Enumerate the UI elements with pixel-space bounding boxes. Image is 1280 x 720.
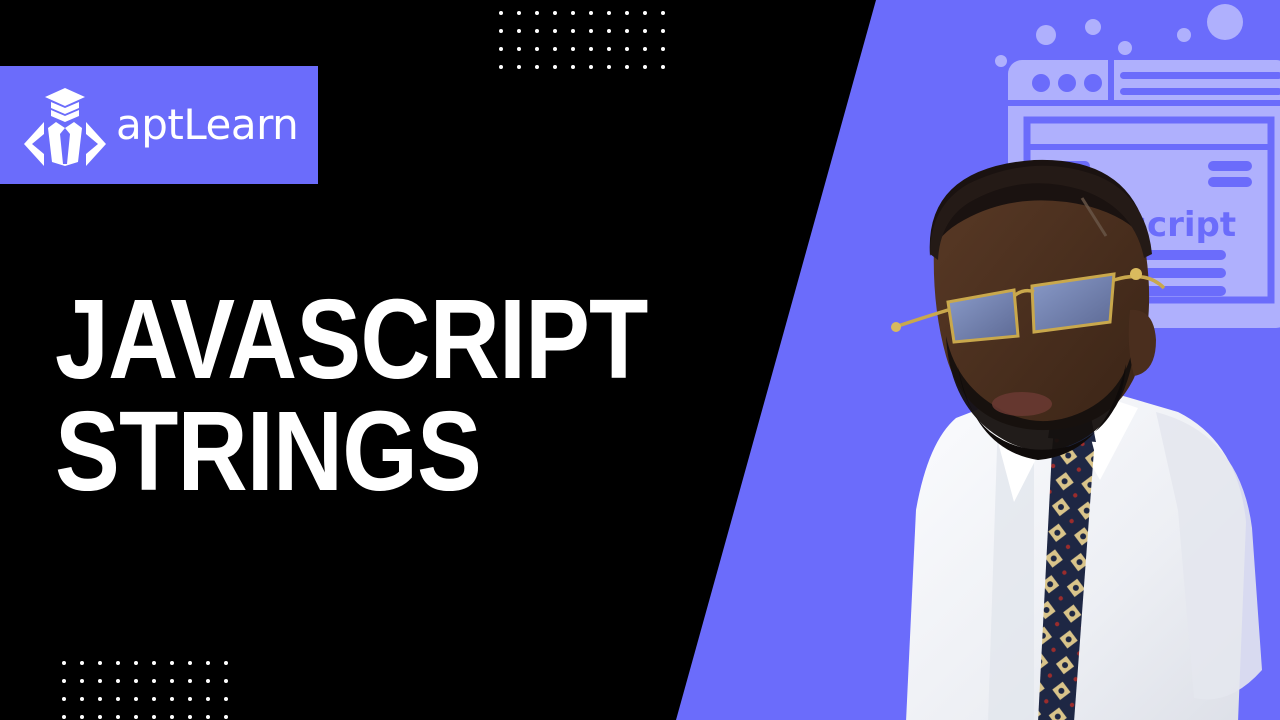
decor-dot [62, 661, 66, 665]
decor-dot [134, 661, 138, 665]
decor-dot [170, 697, 174, 701]
traffic-light-dot [1032, 74, 1050, 92]
decor-dot [607, 29, 611, 33]
decor-dot [571, 65, 575, 69]
decor-dot [535, 65, 539, 69]
decor-dot [134, 715, 138, 719]
decor-dot [152, 679, 156, 683]
traffic-light-dot [1084, 74, 1102, 92]
decor-dot [206, 715, 210, 719]
decor-dot [170, 661, 174, 665]
decor-dot [98, 679, 102, 683]
decor-dot [80, 697, 84, 701]
decor-dot [607, 11, 611, 15]
decor-dot [625, 47, 629, 51]
decor-dot [643, 47, 647, 51]
decor-dot [589, 29, 593, 33]
decor-dot [224, 661, 228, 665]
instructor-portrait [838, 150, 1280, 720]
decor-dot [80, 679, 84, 683]
decor-dot [661, 65, 665, 69]
decor-dot [98, 715, 102, 719]
decor-dot [224, 679, 228, 683]
decor-dot [62, 715, 66, 719]
decor-dot [188, 715, 192, 719]
decor-dot [188, 679, 192, 683]
decor-dot [224, 697, 228, 701]
decor-dot [571, 29, 575, 33]
decor-dot [80, 661, 84, 665]
decor-dot [206, 661, 210, 665]
decor-dot [134, 697, 138, 701]
slide-canvas: Javascript [0, 0, 1280, 720]
decor-dot [224, 715, 228, 719]
decor-dot [62, 697, 66, 701]
decor-dot [170, 679, 174, 683]
decor-dot [116, 679, 120, 683]
decor-dot [571, 47, 575, 51]
decor-dot [589, 65, 593, 69]
decor-dot [80, 715, 84, 719]
decor-dot [589, 47, 593, 51]
decor-dot [116, 697, 120, 701]
decor-dot [607, 65, 611, 69]
decor-dot [98, 697, 102, 701]
decor-dot [98, 661, 102, 665]
decor-dot [661, 29, 665, 33]
graduate-code-icon [22, 82, 108, 168]
brand-wordmark: aptLearn [116, 104, 298, 146]
decor-dot [152, 661, 156, 665]
decor-dot [553, 47, 557, 51]
decor-dot [625, 65, 629, 69]
decor-dot [643, 11, 647, 15]
decor-dot [188, 661, 192, 665]
decor-dot [152, 715, 156, 719]
decor-dot [535, 11, 539, 15]
decor-dot [661, 47, 665, 51]
decor-dot [643, 29, 647, 33]
decor-dot [517, 29, 521, 33]
decor-dot [661, 11, 665, 15]
decor-dot [499, 11, 503, 15]
decor-dot [517, 65, 521, 69]
decor-dot [607, 47, 611, 51]
decor-dot [553, 11, 557, 15]
decor-dot [643, 65, 647, 69]
traffic-light-dot [1058, 74, 1076, 92]
brand-logo-badge[interactable]: aptLearn [0, 66, 318, 184]
decor-dot [170, 715, 174, 719]
decor-dot [553, 29, 557, 33]
decor-dot [625, 11, 629, 15]
decor-dot [188, 697, 192, 701]
decor-dot [571, 11, 575, 15]
decor-dot [589, 11, 593, 15]
decor-dot [116, 661, 120, 665]
decor-dot [535, 29, 539, 33]
decor-dot [499, 29, 503, 33]
decor-dot [625, 29, 629, 33]
decor-dot [499, 65, 503, 69]
decor-dot [206, 679, 210, 683]
decor-dot [517, 47, 521, 51]
decor-dot [152, 697, 156, 701]
decor-dot [62, 679, 66, 683]
decor-dot [517, 11, 521, 15]
decor-dot [134, 679, 138, 683]
decor-dot [499, 47, 503, 51]
decor-dot [206, 697, 210, 701]
decor-dot [553, 65, 557, 69]
title-line-2: STRINGS [55, 396, 648, 508]
decor-dot [535, 47, 539, 51]
page-title: JAVASCRIPT STRINGS [55, 284, 744, 508]
title-line-1: JAVASCRIPT [55, 284, 648, 396]
decor-dot [116, 715, 120, 719]
